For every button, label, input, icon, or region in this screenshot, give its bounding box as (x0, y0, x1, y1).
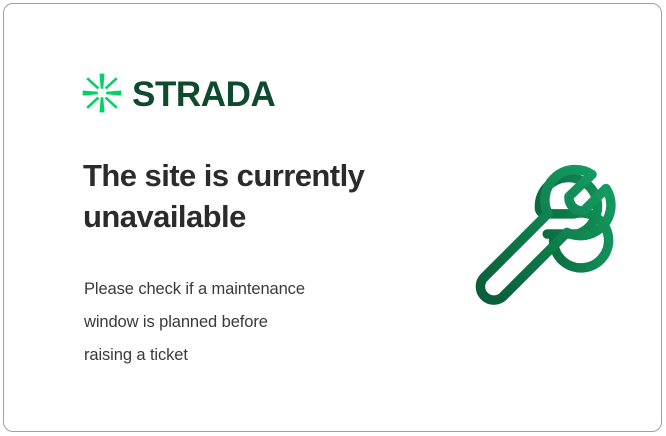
description-line: window is planned before (84, 306, 389, 339)
status-card: STRADA The site is currently unavailable… (3, 3, 662, 432)
brand-wordmark: STRADA (132, 77, 275, 112)
page-description: Please check if a maintenance window is … (84, 273, 389, 372)
brand-logo: STRADA (81, 72, 275, 114)
wrench-icon (459, 154, 619, 316)
page-title: The site is currently unavailable (83, 156, 423, 238)
error-page: STRADA The site is currently unavailable… (0, 0, 666, 436)
description-line: Please check if a maintenance (84, 273, 389, 306)
description-line: raising a ticket (84, 339, 389, 372)
strada-mark-icon (81, 72, 123, 114)
